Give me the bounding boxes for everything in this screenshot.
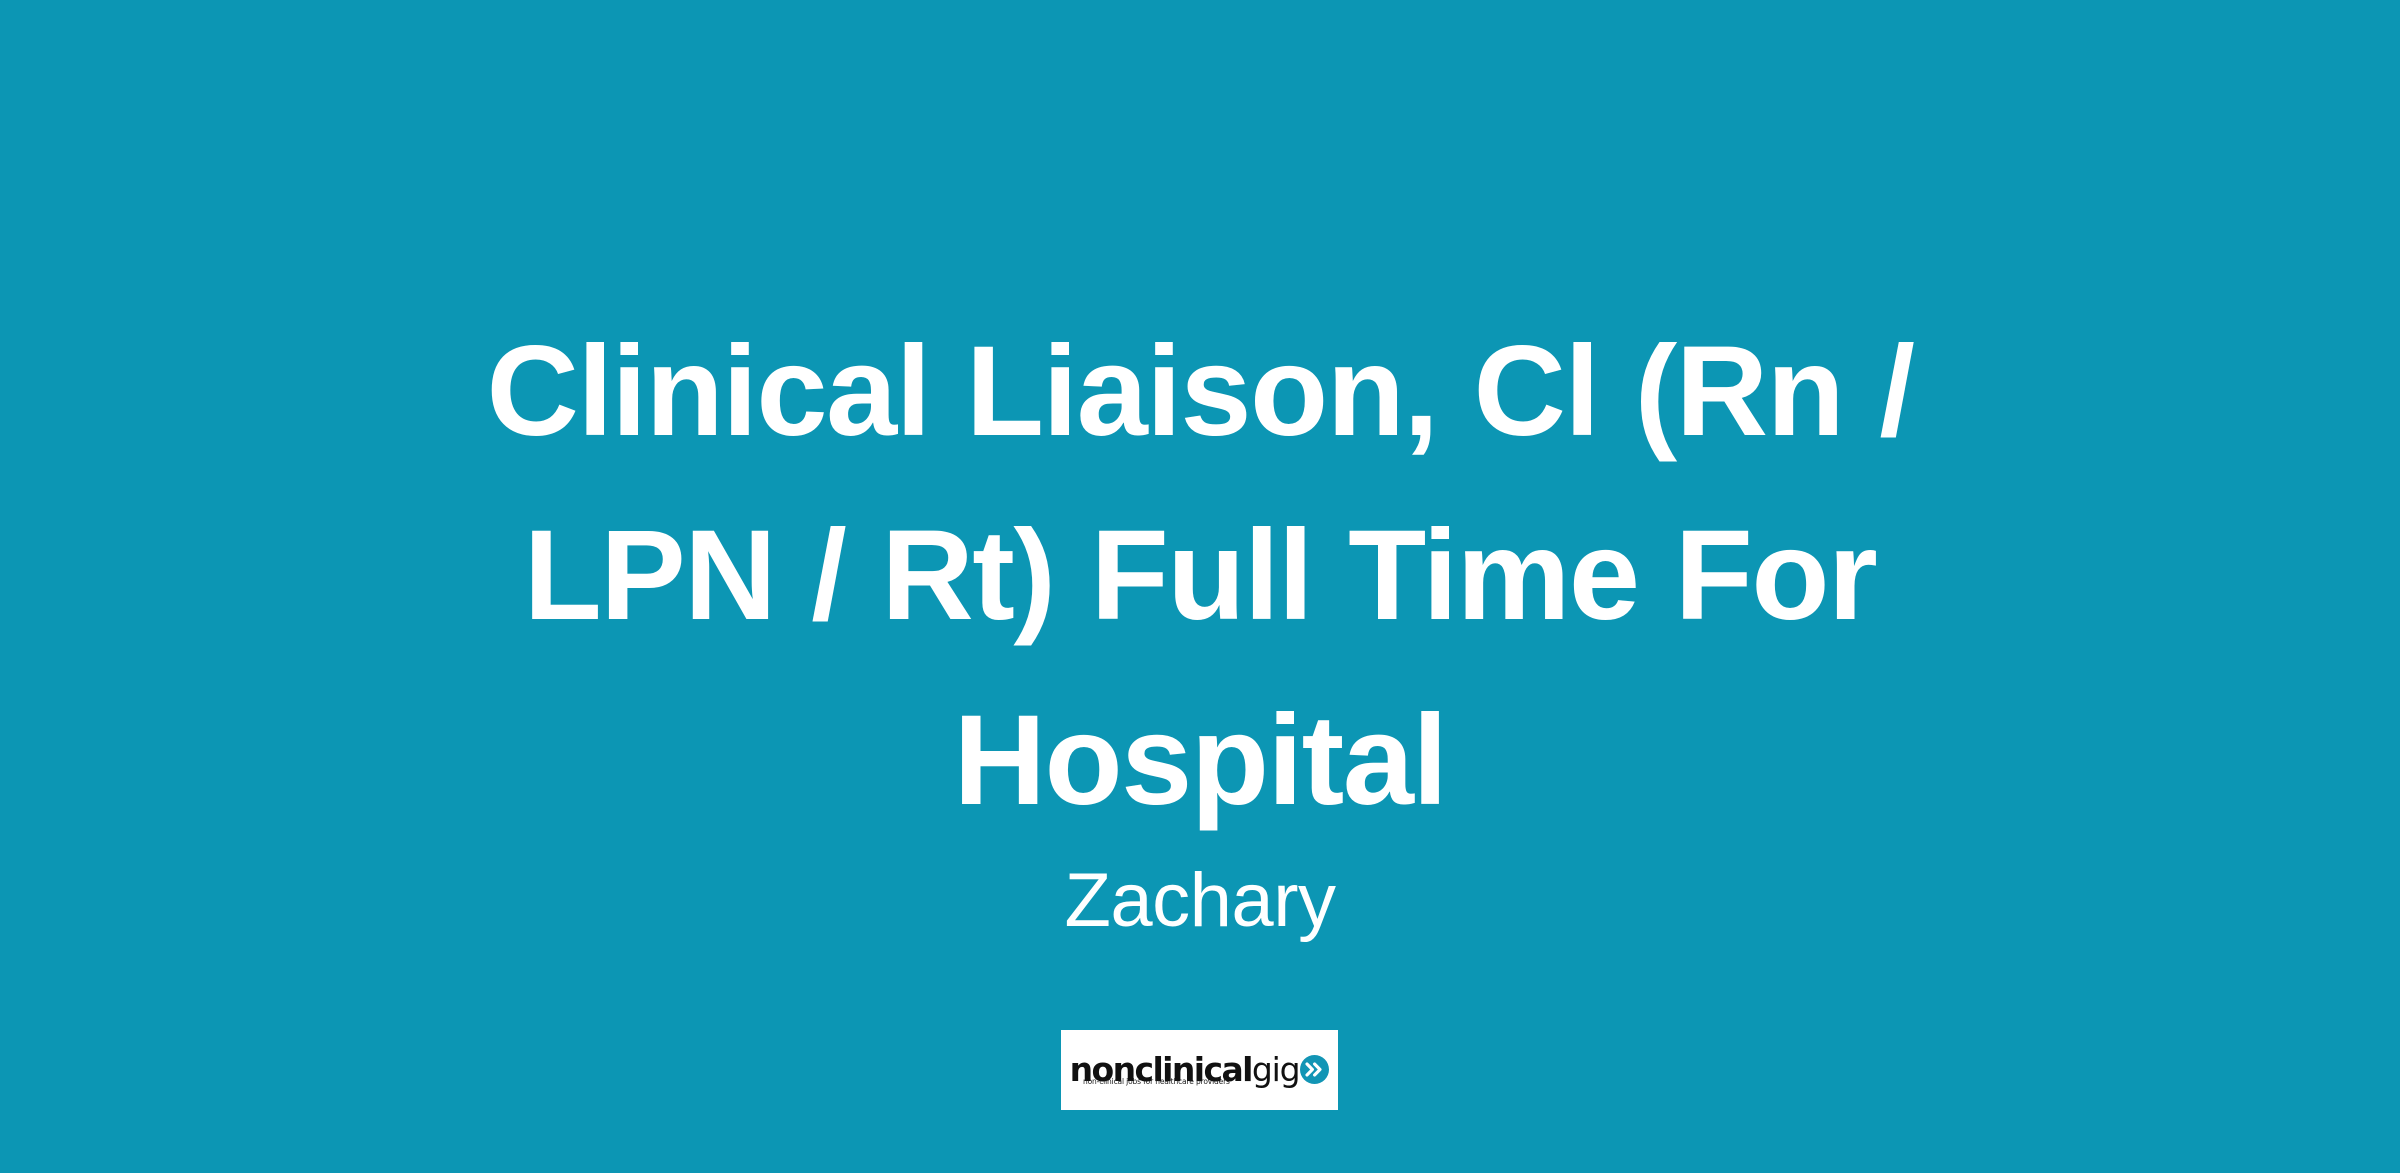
logo-tagline: non-clinical jobs for healthcare provide… — [1083, 1077, 1230, 1086]
job-posting-slide: Clinical Liaison, Cl (Rn / LPN / Rt) Ful… — [0, 0, 2400, 1173]
job-location-subtitle: Zachary — [1064, 853, 1335, 943]
logo-inner: nonclinical gig non-clinical jobs for he… — [1061, 1030, 1338, 1110]
brand-logo[interactable]: nonclinical gig non-clinical jobs for he… — [1061, 1030, 1338, 1110]
double-chevron-right-icon — [1300, 1055, 1329, 1084]
hero-section: Clinical Liaison, Cl (Rn / LPN / Rt) Ful… — [0, 0, 2400, 1010]
page-title: Clinical Liaison, Cl (Rn / LPN / Rt) Ful… — [380, 300, 2020, 853]
logo-brand-light: gig — [1252, 1053, 1299, 1086]
